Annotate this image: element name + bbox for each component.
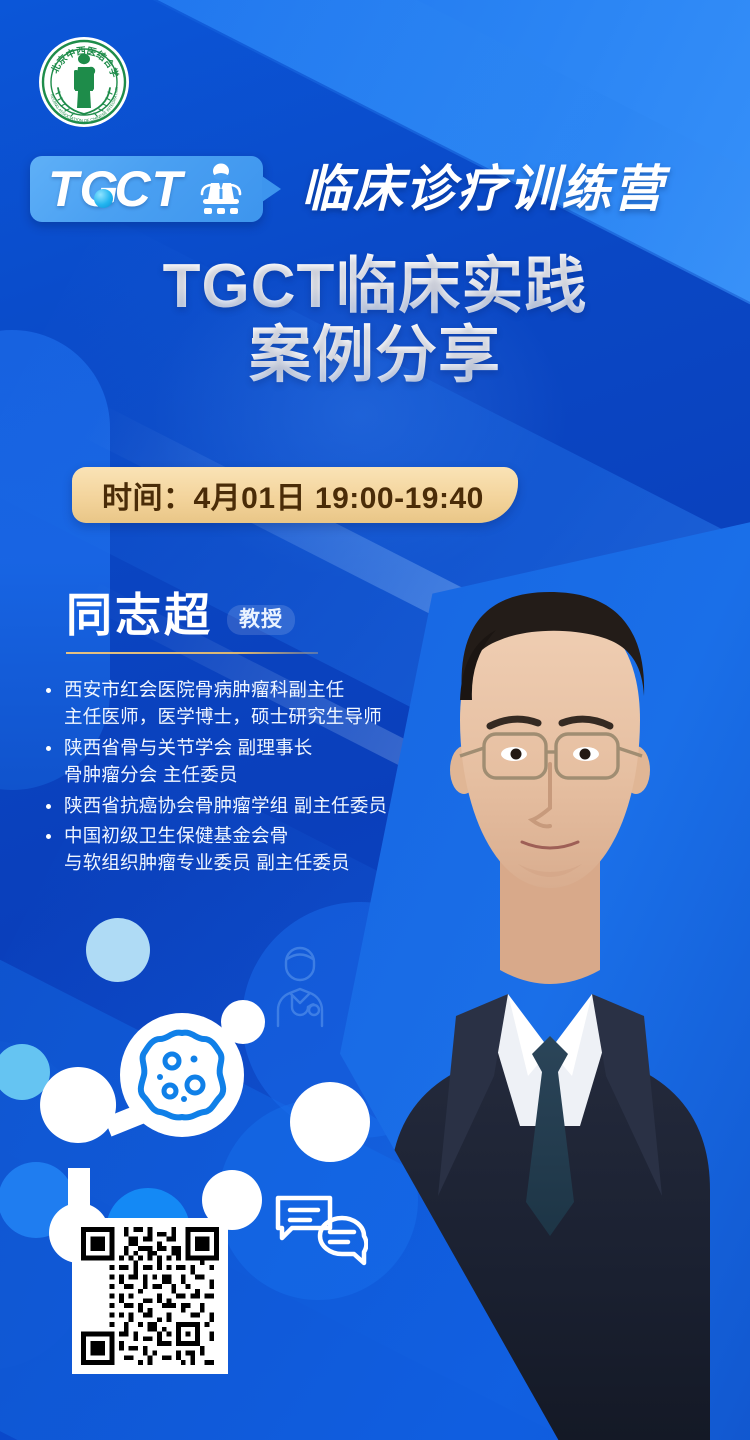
qr-code[interactable]	[72, 1218, 228, 1374]
event-time-badge: 时间：4月01日 19:00-19:40	[72, 467, 518, 523]
event-time-text: 时间：4月01日 19:00-19:40	[102, 473, 484, 517]
banner-chinese-title: 临床诊疗训练营	[301, 164, 665, 214]
speaker-divider	[66, 652, 318, 654]
qr-code-image[interactable]	[81, 1227, 219, 1365]
page-title: TGCT临床实践 案例分享	[0, 252, 750, 391]
banner-brand-c: C	[114, 164, 151, 214]
credential-sub: 与软组织肿瘤专业委员 副主任委员	[64, 849, 432, 876]
list-item: 陕西省骨与关节学会 副理事长 骨肿瘤分会 主任委员	[42, 734, 432, 789]
event-banner: TG C T	[30, 156, 665, 222]
credential-main: 西安市红会医院骨病肿瘤科副主任	[64, 679, 345, 700]
organization-logo: 北京中西医结合学会 BEIJING ASSOCIATION OF CHINESE…	[38, 36, 130, 128]
credential-main: 陕西省抗癌协会骨肿瘤学组 副主任委员	[64, 795, 387, 816]
list-item: 中国初级卫生保健基金会骨 与软组织肿瘤专业委员 副主任委员	[42, 822, 432, 877]
speaker-credentials-list: 西安市红会医院骨病肿瘤科副主任 主任医师，医学博士，硕士研究生导师 陕西省骨与关…	[42, 676, 432, 880]
title-line-2: 案例分享	[0, 321, 750, 390]
list-item: 西安市红会医院骨病肿瘤科副主任 主任医师，医学博士，硕士研究生导师	[42, 676, 432, 731]
credential-main: 中国初级卫生保健基金会骨	[64, 825, 288, 846]
speaker-name: 同志超	[66, 592, 213, 638]
credential-sub: 骨肿瘤分会 主任委员	[64, 761, 432, 788]
lecturer-podium-icon	[193, 163, 249, 215]
chat-bubbles-icon	[272, 1190, 368, 1270]
banner-brand-t: T	[152, 164, 184, 214]
credential-main: 陕西省骨与关节学会 副理事长	[64, 737, 312, 758]
banner-brand-tg: TG	[48, 164, 119, 214]
banner-brand-dot	[94, 189, 113, 208]
doctor-stethoscope-icon	[258, 938, 342, 1030]
title-line-1: TGCT临床实践	[0, 252, 750, 321]
speaker-name-row: 同志超 教授	[66, 592, 318, 638]
speaker-info: 同志超 教授	[66, 592, 318, 654]
speaker-title-badge: 教授	[227, 605, 295, 635]
list-item: 陕西省抗癌协会骨肿瘤学组 副主任委员	[42, 792, 432, 819]
credential-sub: 主任医师，医学博士，硕士研究生导师	[64, 703, 432, 730]
poster-root: 北京中西医结合学会 BEIJING ASSOCIATION OF CHINESE…	[0, 0, 750, 1440]
banner-pill: TG C T	[30, 156, 263, 222]
